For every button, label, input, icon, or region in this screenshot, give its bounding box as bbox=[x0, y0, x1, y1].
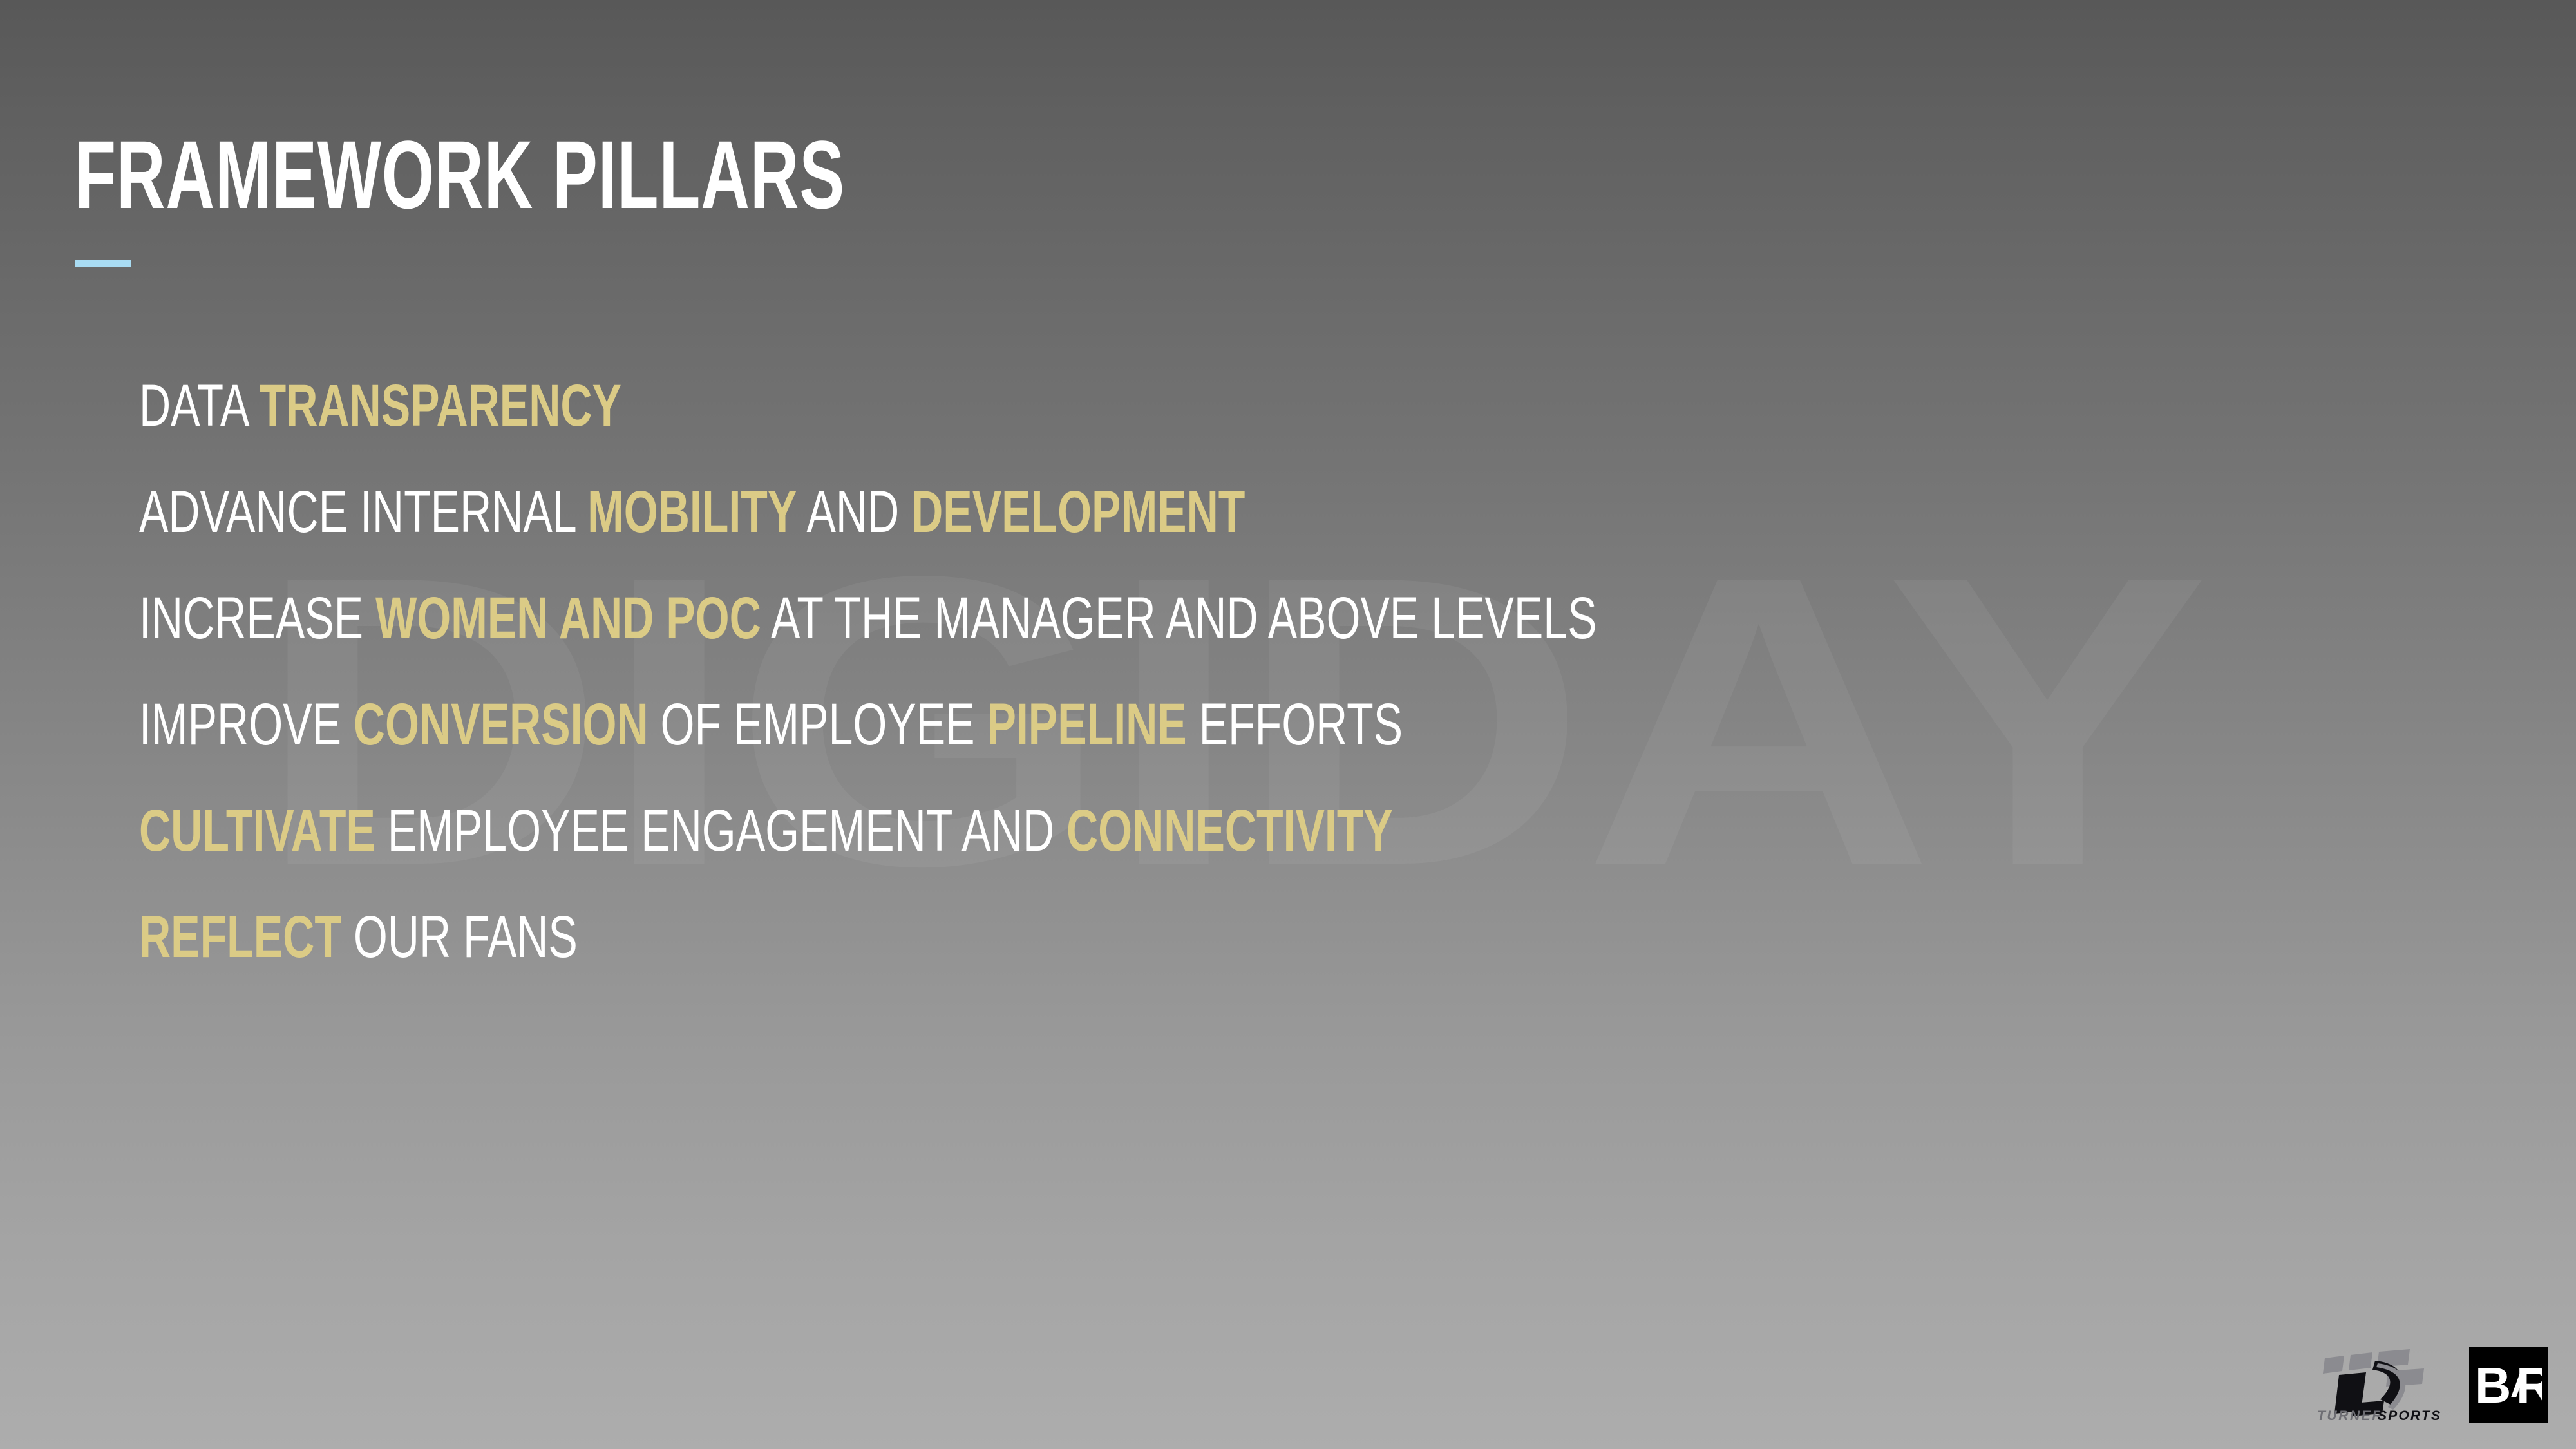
pillar-line-text: DATA TRANSPARENCY bbox=[139, 375, 621, 437]
pillar-line: CULTIVATE EMPLOYEE ENGAGEMENT AND CONNEC… bbox=[139, 778, 2329, 884]
pillar-line: DATA TRANSPARENCY bbox=[139, 353, 2329, 459]
br-letter-r: R bbox=[2516, 1358, 2542, 1413]
pillar-keyword: DEVELOPMENT bbox=[911, 479, 1245, 545]
pillar-text: AND bbox=[797, 479, 911, 545]
title-accent-bar bbox=[75, 260, 131, 267]
pillar-text: OF EMPLOYEE bbox=[649, 692, 987, 757]
pillar-line-text: IMPROVE CONVERSION OF EMPLOYEE PIPELINE … bbox=[139, 694, 1403, 756]
pillar-line: INCREASE WOMEN AND POC AT THE MANAGER AN… bbox=[139, 565, 2329, 672]
turner-sports-mark: TURNER SPORTS bbox=[2313, 1349, 2447, 1421]
title-block: FRAMEWORK PILLARS bbox=[75, 126, 1175, 267]
pillar-text: AT THE MANAGER AND ABOVE LEVELS bbox=[761, 585, 1597, 651]
pillar-keyword: TRANSPARENCY bbox=[260, 373, 621, 439]
pillar-keyword: CULTIVATE bbox=[139, 798, 375, 864]
pillar-line: IMPROVE CONVERSION OF EMPLOYEE PIPELINE … bbox=[139, 672, 2329, 778]
pillar-keyword: WOMEN AND POC bbox=[375, 585, 761, 651]
pillar-line: REFLECT OUR FANS bbox=[139, 884, 2329, 990]
pillar-text: OUR FANS bbox=[341, 904, 578, 970]
turner-sports-logo: TURNER SPORTS bbox=[2313, 1349, 2447, 1421]
pillar-line: ADVANCE INTERNAL MOBILITY AND DEVELOPMEN… bbox=[139, 459, 2329, 565]
bleacher-report-logo: B R bbox=[2469, 1347, 2548, 1423]
pillar-line-text: REFLECT OUR FANS bbox=[139, 906, 578, 969]
br-letter-b: B bbox=[2475, 1358, 2511, 1413]
pillar-line-text: INCREASE WOMEN AND POC AT THE MANAGER AN… bbox=[139, 587, 1597, 650]
pillar-list: DATA TRANSPARENCYADVANCE INTERNAL MOBILI… bbox=[139, 353, 2329, 990]
pillar-text: INCREASE bbox=[139, 585, 375, 651]
pillar-keyword: MOBILITY bbox=[587, 479, 797, 545]
pillar-line-text: CULTIVATE EMPLOYEE ENGAGEMENT AND CONNEC… bbox=[139, 800, 1393, 862]
pillar-text: DATA bbox=[139, 373, 260, 439]
pillar-keyword: PIPELINE bbox=[987, 692, 1186, 757]
pillar-text: EFFORTS bbox=[1187, 692, 1403, 757]
logo-bar: TURNER SPORTS B R bbox=[2313, 1347, 2548, 1423]
pillar-keyword: CONNECTIVITY bbox=[1066, 798, 1393, 864]
page-title: FRAMEWORK PILLARS bbox=[75, 126, 845, 223]
pillar-keyword: CONVERSION bbox=[354, 692, 649, 757]
pillar-line-text: ADVANCE INTERNAL MOBILITY AND DEVELOPMEN… bbox=[139, 481, 1245, 544]
br-mark: B R bbox=[2475, 1358, 2542, 1413]
pillar-keyword: REFLECT bbox=[139, 904, 341, 970]
pillar-text: EMPLOYEE ENGAGEMENT AND bbox=[375, 798, 1066, 864]
pillar-text: IMPROVE bbox=[139, 692, 354, 757]
slide-canvas: DIGIDAY FRAMEWORK PILLARS DATA TRANSPARE… bbox=[0, 0, 2576, 1449]
pillar-text: ADVANCE INTERNAL bbox=[139, 479, 587, 545]
turner-wordmark-light: TURNER bbox=[2317, 1408, 2383, 1421]
turner-wordmark-bold: SPORTS bbox=[2378, 1408, 2441, 1421]
